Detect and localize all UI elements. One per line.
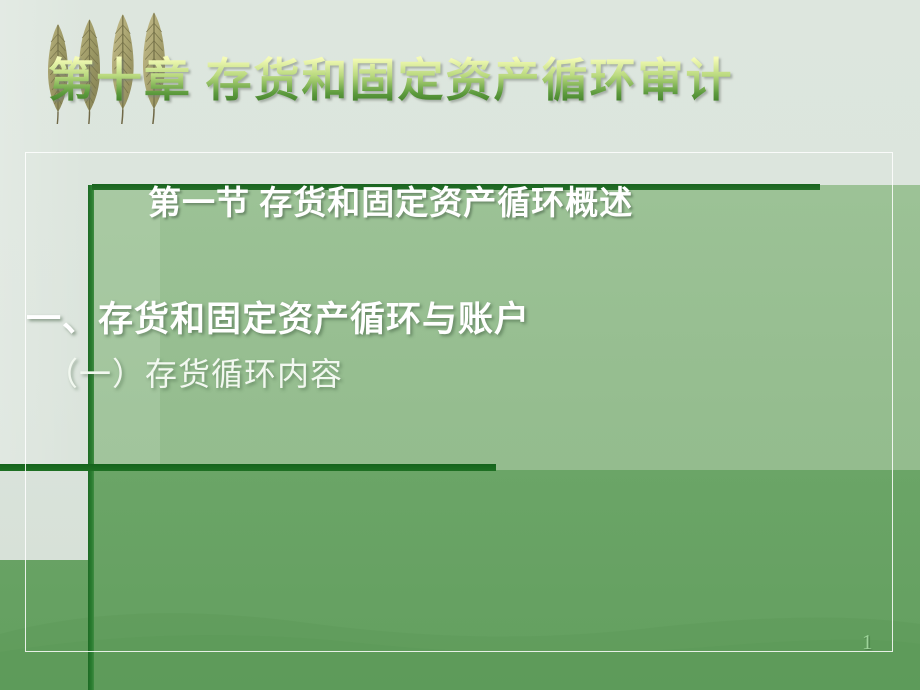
- presentation-slide: 第十章 存货和固定资产循环审计 第一节 存货和固定资产循环概述 一、存货和固定资…: [0, 0, 920, 690]
- vertical-accent-rule: [88, 185, 94, 690]
- content-panel-lower-left-mask: [0, 470, 88, 560]
- wave-decoration: [0, 590, 920, 690]
- horizontal-accent-rule-middle: [0, 464, 496, 471]
- page-number: 1: [862, 630, 873, 655]
- slide-title: 第十章 存货和固定资产循环审计: [48, 44, 888, 110]
- body-sub-heading-1: （一）存货循环内容: [46, 349, 343, 395]
- body-heading-1: 一、存货和固定资产循环与账户: [26, 291, 530, 342]
- section-heading: 第一节 存货和固定资产循环概述: [148, 176, 633, 224]
